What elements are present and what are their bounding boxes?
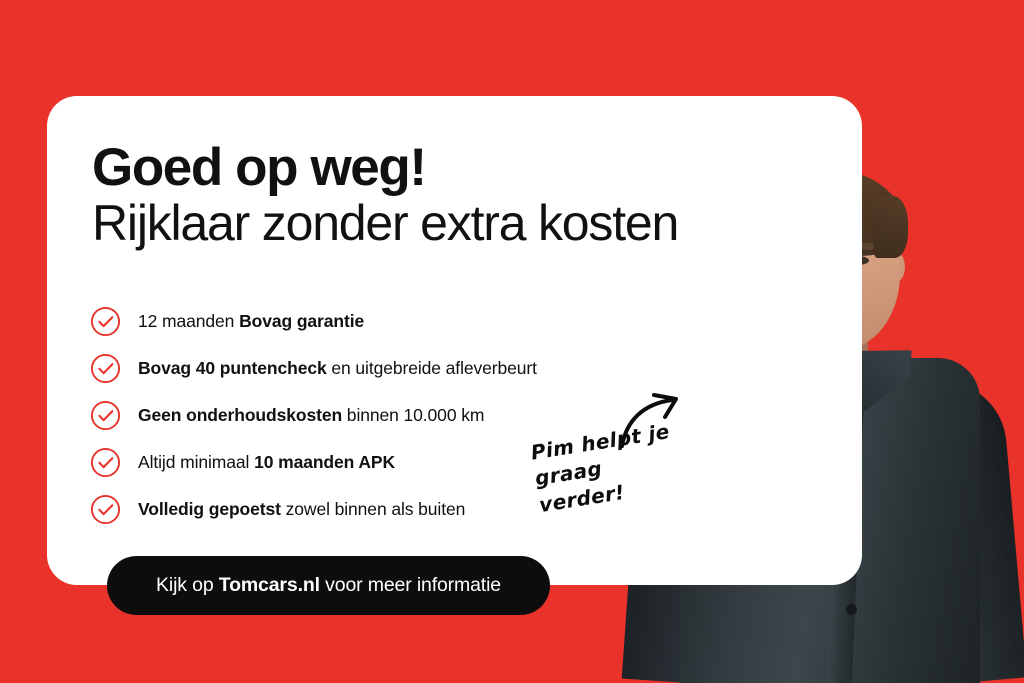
list-item-label: Geen onderhoudskosten binnen 10.000 km: [138, 405, 484, 426]
label-post: binnen 10.000 km: [342, 405, 484, 425]
cta-post: voor meer informatie: [320, 574, 501, 597]
label-bold: 10 maanden APK: [254, 452, 395, 472]
label-post: en uitgebreide afleverbeurt: [327, 358, 537, 378]
cta-pre: Kijk op: [156, 574, 219, 597]
label-post: zowel binnen als buiten: [281, 499, 465, 519]
cta-brand: Tomcars.nl: [219, 574, 320, 597]
label-pre: 12 maanden: [138, 311, 239, 331]
label-bold: Bovag garantie: [239, 311, 364, 331]
check-circle-icon: [90, 447, 121, 478]
list-item: Bovag 40 puntencheck en uitgebreide afle…: [90, 345, 730, 392]
label-bold: Geen onderhoudskosten: [138, 405, 342, 425]
check-circle-icon: [90, 400, 121, 431]
page-title: Goed op weg!: [92, 141, 426, 194]
check-circle-icon: [90, 353, 121, 384]
check-circle-icon: [90, 494, 121, 525]
list-item-label: 12 maanden Bovag garantie: [138, 311, 364, 332]
check-circle-icon: [90, 306, 121, 337]
advertisement-banner: Goed op weg! Rijklaar zonder extra koste…: [0, 0, 1024, 683]
shirt-button: [846, 604, 857, 615]
list-item-label: Bovag 40 puntencheck en uitgebreide afle…: [138, 358, 537, 379]
list-item-label: Altijd minimaal 10 maanden APK: [138, 452, 395, 473]
label-bold: Volledig gepoetst: [138, 499, 281, 519]
list-item: 12 maanden Bovag garantie: [90, 298, 730, 345]
label-pre: Altijd minimaal: [138, 452, 254, 472]
label-bold: Bovag 40 puntencheck: [138, 358, 327, 378]
page-subtitle: Rijklaar zonder extra kosten: [92, 198, 678, 248]
list-item-label: Volledig gepoetst zowel binnen als buite…: [138, 499, 465, 520]
cta-button[interactable]: Kijk op Tomcars.nl voor meer informatie: [107, 556, 550, 615]
